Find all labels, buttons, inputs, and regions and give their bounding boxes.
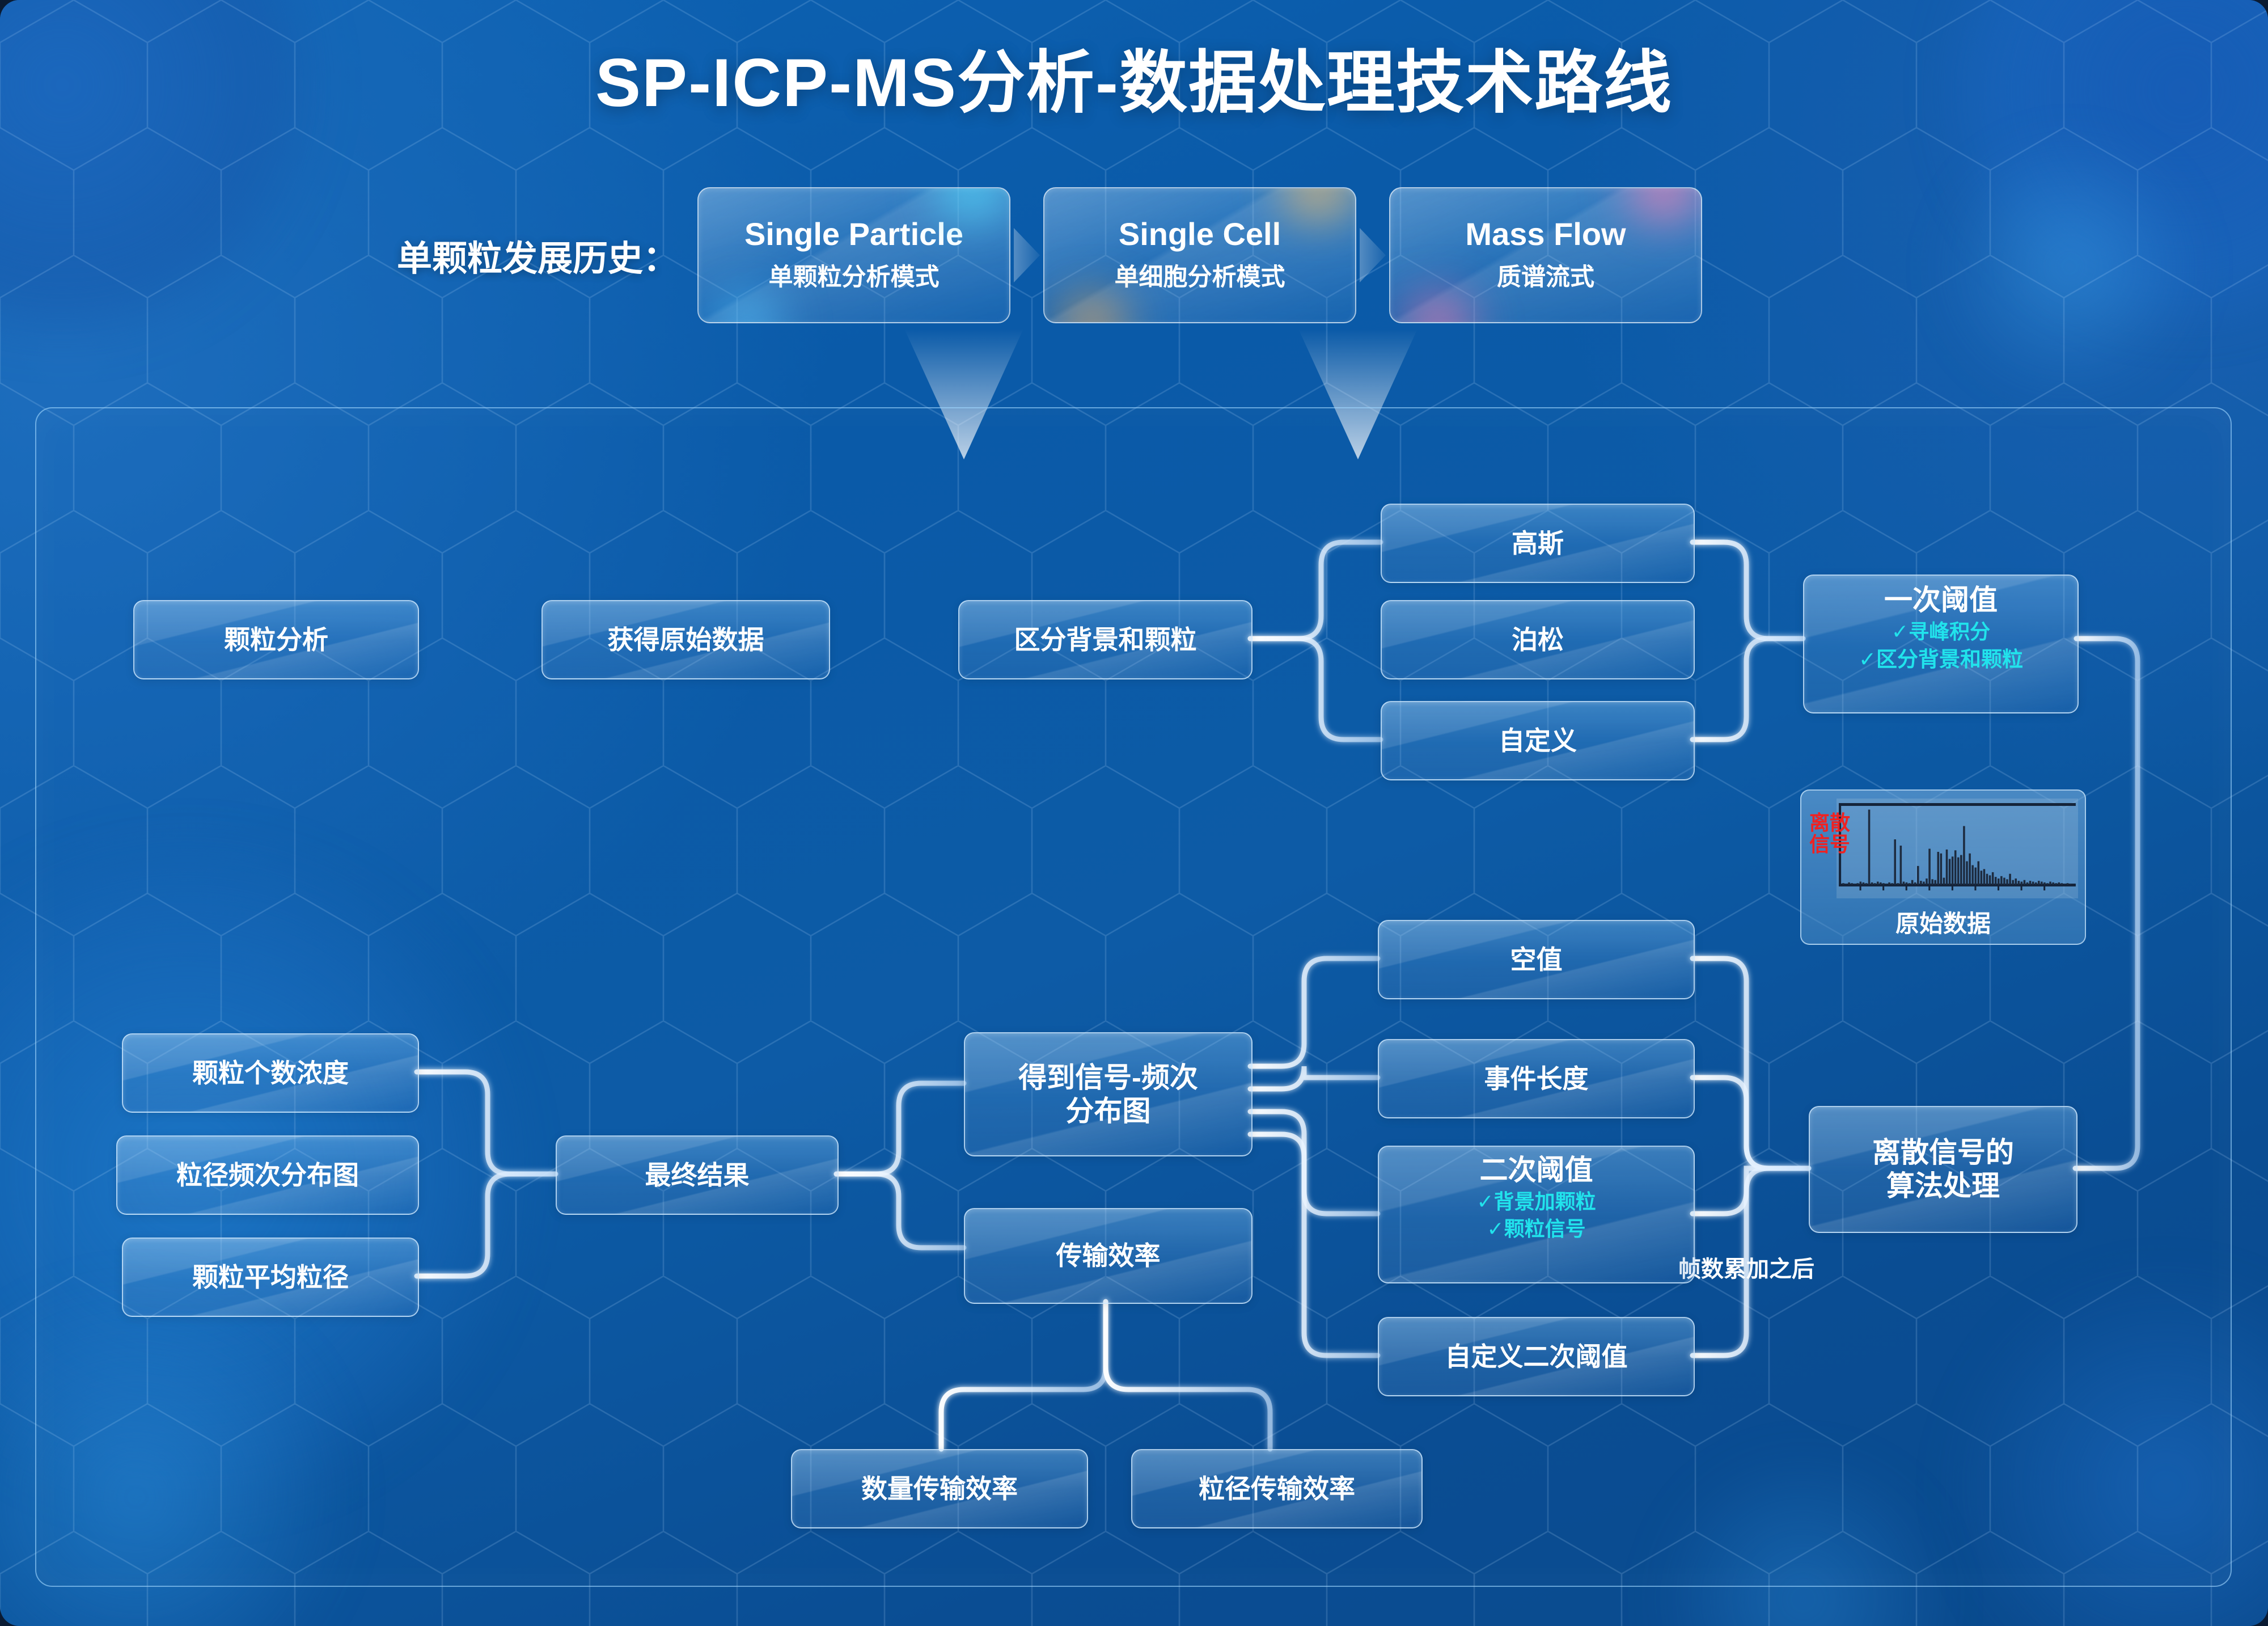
box-label: 离散信号的 算法处理 — [1872, 1136, 2014, 1203]
history-card-cn: 单细胞分析模式 — [1115, 257, 1285, 293]
box-label: 粒径频次分布图 — [176, 1160, 359, 1190]
box-label: 粒径传输效率 — [1199, 1473, 1355, 1504]
box-label: 最终结果 — [645, 1160, 750, 1190]
page-title: SP-ICP-MS分析-数据处理技术路线 — [0, 27, 2268, 126]
box-size-frequency-distribution[interactable]: 粒径频次分布图 — [116, 1135, 419, 1215]
box-discrete-signal-algorithm[interactable]: 离散信号的 算法处理 — [1809, 1106, 2077, 1233]
check-mark-icon: ✓ — [1476, 1190, 1493, 1213]
box-label: 高斯 — [1512, 528, 1564, 559]
box-transfer-efficiency[interactable]: 传输效率 — [964, 1208, 1253, 1304]
box-null-value[interactable]: 空值 — [1378, 920, 1695, 999]
box-particle-analysis[interactable]: 颗粒分析 — [133, 600, 419, 679]
box-raw-data[interactable]: 获得原始数据 — [541, 600, 830, 679]
box-gaussian[interactable]: 高斯 — [1381, 504, 1695, 583]
poster-canvas: SP-ICP-MS分析-数据处理技术路线 单颗粒发展历史： Single Par… — [0, 0, 2268, 1626]
history-card-single-cell[interactable]: Single Cell 单细胞分析模式 — [1043, 187, 1356, 323]
second-threshold-check-1: ✓背景加颗粒 — [1476, 1189, 1596, 1214]
history-strip: 单颗粒发展历史： Single Particle 单颗粒分析模式 Single … — [397, 187, 1702, 323]
second-threshold-check-2: ✓颗粒信号 — [1487, 1217, 1585, 1241]
spectrum-plot — [1837, 799, 2078, 898]
box-label: 二次阈值 — [1480, 1154, 1593, 1187]
box-label: 颗粒分析 — [224, 624, 328, 655]
first-threshold-check-2: ✓区分背景和颗粒 — [1859, 647, 2023, 672]
thumbnail-raw-data[interactable]: 离散 信号 原始数据 — [1800, 789, 2086, 945]
box-signal-frequency-plot[interactable]: 得到信号-频次 分布图 — [964, 1032, 1253, 1156]
first-threshold-check-1: ✓寻峰积分 — [1892, 619, 1990, 644]
history-card-en: Mass Flow — [1465, 218, 1626, 251]
box-custom-second-threshold[interactable]: 自定义二次阈值 — [1378, 1317, 1695, 1396]
box-mean-particle-size[interactable]: 颗粒平均粒径 — [122, 1238, 419, 1317]
history-card-cn: 质谱流式 — [1497, 257, 1594, 293]
box-label: 颗粒个数浓度 — [192, 1058, 349, 1088]
card-glow — [1389, 286, 1504, 323]
box-label: 数量传输效率 — [861, 1473, 1018, 1504]
history-card-cn: 单颗粒分析模式 — [769, 257, 940, 293]
box-label: 泊松 — [1512, 624, 1564, 655]
box-label: 空值 — [1510, 944, 1563, 975]
box-label: 事件长度 — [1484, 1063, 1589, 1094]
box-label: 获得原始数据 — [608, 624, 764, 655]
history-card-en: Single Particle — [744, 218, 963, 251]
box-count-transfer-efficiency[interactable]: 数量传输效率 — [791, 1449, 1088, 1528]
box-label: 传输效率 — [1056, 1240, 1161, 1271]
box-particle-count-concentration[interactable]: 颗粒个数浓度 — [122, 1033, 419, 1113]
box-first-threshold[interactable]: 一次阈值 ✓寻峰积分 ✓区分背景和颗粒 — [1803, 575, 2079, 713]
box-label: 颗粒平均粒径 — [192, 1262, 349, 1293]
chevron-right-icon — [1014, 228, 1040, 282]
box-label: 一次阈值 — [1884, 584, 1998, 617]
box-second-threshold[interactable]: 二次阈值 ✓背景加颗粒 ✓颗粒信号 — [1378, 1146, 1695, 1283]
history-card-en: Single Cell — [1119, 218, 1281, 251]
history-card-single-particle[interactable]: Single Particle 单颗粒分析模式 — [697, 187, 1010, 323]
box-separate-background-particles[interactable]: 区分背景和颗粒 — [958, 600, 1253, 679]
chevron-right-icon — [1360, 228, 1386, 282]
check-mark-icon: ✓ — [1487, 1217, 1504, 1240]
check-mark-icon: ✓ — [1859, 648, 1876, 671]
frames-accumulated-note: 帧数累加之后 — [1678, 1251, 1814, 1283]
box-label: 区分背景和颗粒 — [1014, 624, 1197, 655]
box-label: 自定义 — [1499, 725, 1577, 756]
box-poisson[interactable]: 泊松 — [1381, 600, 1695, 679]
thumbnail-overlay-text: 离散 信号 — [1809, 812, 1850, 855]
history-card-mass-flow[interactable]: Mass Flow 质谱流式 — [1389, 187, 1702, 323]
box-label: 得到信号-频次 分布图 — [1018, 1061, 1198, 1128]
box-event-length[interactable]: 事件长度 — [1378, 1039, 1695, 1118]
box-custom[interactable]: 自定义 — [1381, 701, 1695, 780]
box-final-result[interactable]: 最终结果 — [556, 1135, 839, 1215]
check-mark-icon: ✓ — [1892, 620, 1909, 643]
history-label: 单颗粒发展历史： — [397, 230, 678, 281]
box-size-transfer-efficiency[interactable]: 粒径传输效率 — [1131, 1449, 1423, 1528]
box-label: 自定义二次阈值 — [1445, 1341, 1628, 1372]
thumbnail-caption: 原始数据 — [1801, 905, 2085, 939]
